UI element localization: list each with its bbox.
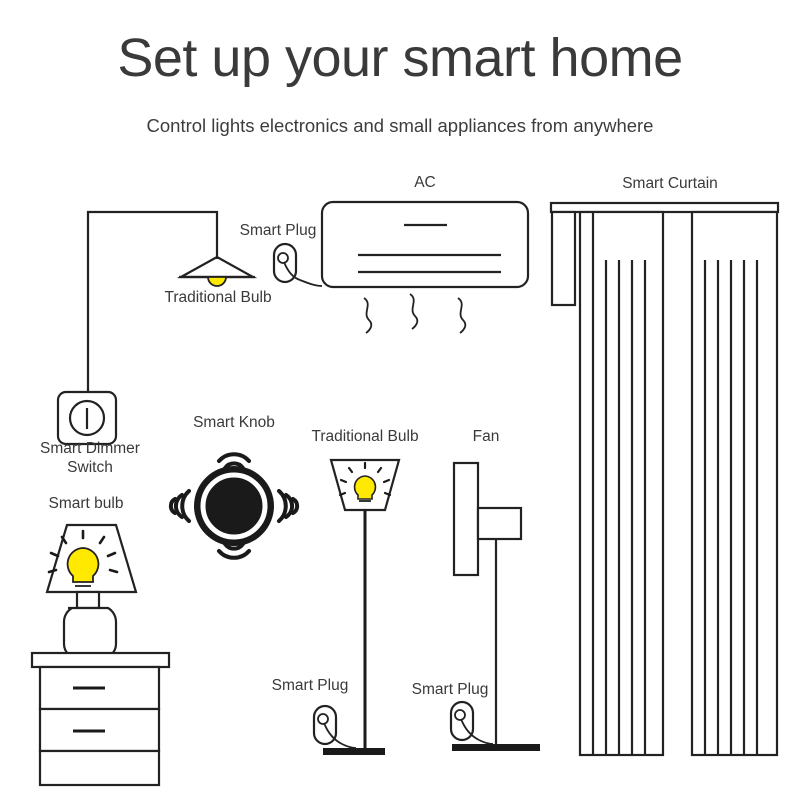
label-smart-plug-ac: Smart Plug [232,222,324,240]
label-traditional-bulb-pendant: Traditional Bulb [145,289,291,307]
smart-plug-floorlamp-icon[interactable] [314,706,356,748]
label-fan: Fan [446,428,526,446]
label-smart-curtain: Smart Curtain [600,175,740,193]
knob-wave-top [219,454,249,468]
knob-wave-bottom [219,544,249,558]
smart-dimmer-switch-icon[interactable] [58,392,116,444]
ac-unit-icon [322,202,528,333]
smart-curtain-icon [551,203,778,755]
bedside-lamp-bulb [49,531,117,586]
knob-wave-right [279,491,297,521]
label-smart-dimmer-switch-line2: Switch [21,459,159,477]
label-smart-dimmer-switch-line1: Smart Dimmer [21,440,159,458]
label-smart-plug-floorlamp: Smart Plug [264,677,356,695]
label-ac: AC [385,174,465,192]
smart-plug-ac-icon[interactable] [274,244,322,286]
diagram-canvas [0,0,800,800]
bedside-lamp-icon [47,525,136,658]
floor-lamp-bulb [340,463,390,501]
pendant-lamp-icon [179,257,255,286]
label-smart-knob: Smart Knob [179,414,289,432]
knob-wave-left [171,491,189,521]
smart-knob-icon[interactable] [171,454,297,558]
label-smart-plug-fan: Smart Plug [404,681,496,699]
nightstand-icon [32,653,169,785]
smart-plug-fan-icon[interactable] [451,702,493,744]
label-traditional-bulb-floor: Traditional Bulb [292,428,438,446]
smart-home-diagram: Set up your smart home Control lights el… [0,0,800,800]
label-smart-bulb: Smart bulb [30,495,142,513]
